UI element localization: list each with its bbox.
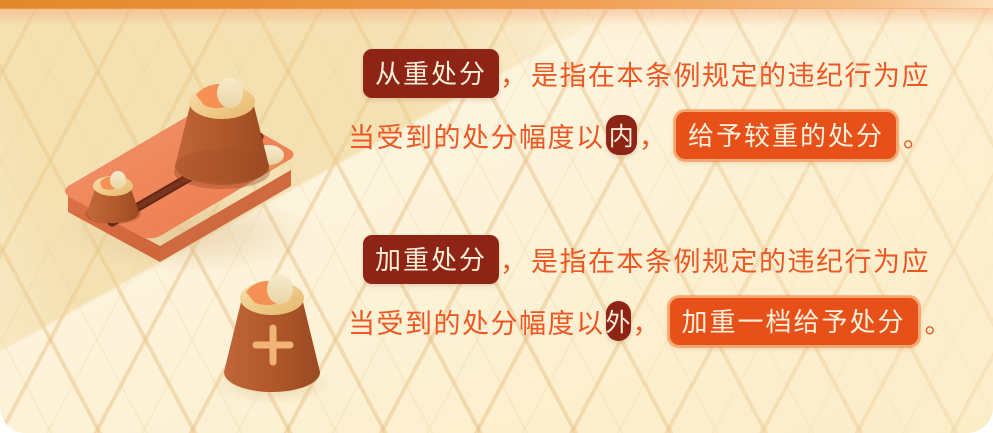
jiazhong-line2-text-before: 当受到的处分幅度以 [348,302,605,341]
paragraph-congzhong-line2: 当受到的处分幅度以 内 ， 给予较重的处分 。 [330,104,930,166]
period-1: 。 [898,116,930,155]
badge-wai: 外 [606,301,631,341]
comma-3: ， [499,240,531,279]
jiazhong-line1-text: 是指在本条例规定的违纪行为应 [531,240,930,279]
illustration-card: 从重处分 ， 是指在本条例规定的违纪行为应 当受到的处分幅度以 内 ， 给予较重… [0,0,993,433]
badge-nei: 内 [606,115,637,155]
plus-weight [210,274,334,404]
large-weight [174,78,270,189]
plus-weight-knob [267,274,293,304]
period-2: 。 [920,302,952,341]
text-column: 从重处分 ， 是指在本条例规定的违纪行为应 当受到的处分幅度以 内 ， 给予较重… [330,0,930,433]
badge-jiazhongchufen: 加重处分 [363,235,499,284]
paragraph-jiazhong-line2: 当受到的处分幅度以 外 ， 加重一档给予处分 。 [330,290,930,352]
comma-1: ， [499,54,531,93]
paragraph-congzhong-line1: 从重处分 ， 是指在本条例规定的违纪行为应 [330,42,930,104]
weight-knob [217,78,243,108]
badge-jiyujiaozhongdechufen: 给予较重的处分 [674,110,898,161]
paragraph-jiazhong: 加重处分 ， 是指在本条例规定的违纪行为应 当受到的处分幅度以 外 ， 加重一档… [330,228,930,352]
comma-4: ， [632,302,664,341]
badge-jiazhongyidangjiyuchufen: 加重一档给予处分 [668,296,920,347]
paragraph-congzhong: 从重处分 ， 是指在本条例规定的违纪行为应 当受到的处分幅度以 内 ， 给予较重… [330,42,930,166]
paragraph-jiazhong-line1: 加重处分 ， 是指在本条例规定的违纪行为应 [330,228,930,290]
congzhong-line2-text-before: 当受到的处分幅度以 [348,116,605,155]
comma-2: ， [638,116,670,155]
congzhong-line1-text: 是指在本条例规定的违纪行为应 [531,54,930,93]
badge-congzhongchufen: 从重处分 [363,49,499,98]
